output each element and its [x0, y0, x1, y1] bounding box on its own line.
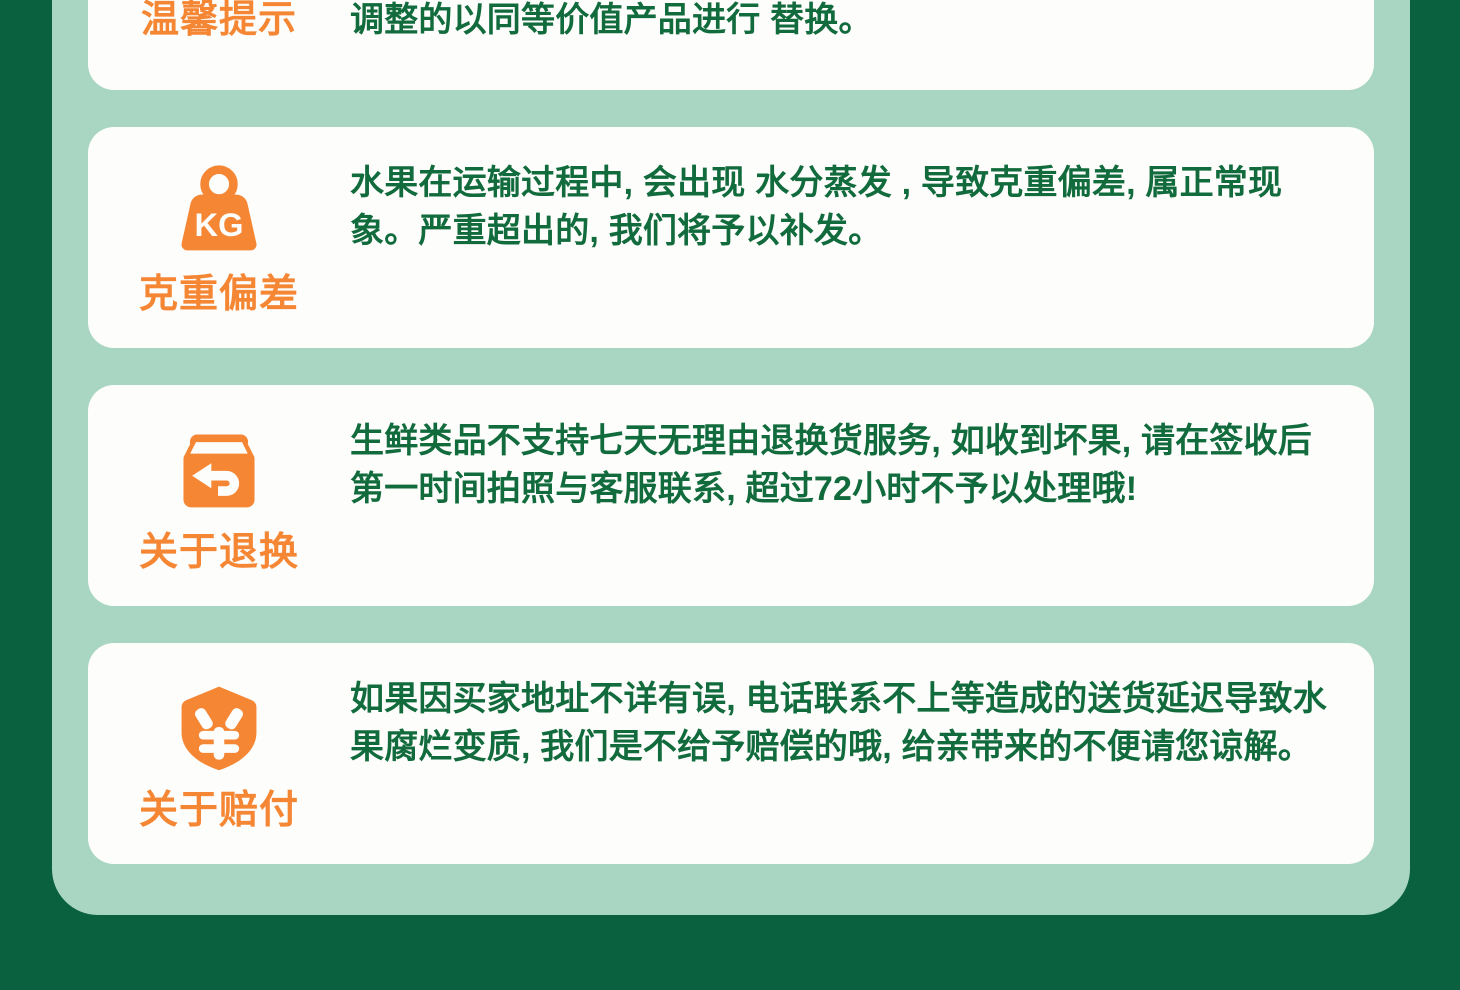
return-box-icon — [171, 421, 267, 517]
policy-card-side-weight-deviation: KG 克重偏差 — [88, 159, 350, 314]
policy-card-text-warm-tips: 调整的以同等价值产品进行 替换。 — [350, 0, 1328, 40]
policy-card-text-about-compensation: 如果因买家地址不详有误, 电话联系不上等造成的送货延迟导致水果腐烂变质, 我们是… — [350, 675, 1328, 772]
service-policy-panel: 温馨提示 调整的以同等价值产品进行 替换。 — [52, 0, 1410, 915]
policy-card-label-about-compensation: 关于赔付 — [139, 791, 299, 830]
policy-card-body-about-return: 生鲜类品不支持七天无理由退换货服务, 如收到坏果, 请在签收后第一时间拍照与客服… — [350, 417, 1374, 514]
shield-yuan-icon — [171, 679, 267, 775]
kg-weight-icon: KG — [171, 163, 267, 259]
kg-weight-icon-text: KG — [195, 206, 244, 243]
policy-card-label-warm-tips: 温馨提示 — [141, 1, 297, 39]
policy-card-body-about-compensation: 如果因买家地址不详有误, 电话联系不上等造成的送货延迟导致水果腐烂变质, 我们是… — [350, 675, 1374, 772]
policy-card-body-warm-tips: 调整的以同等价值产品进行 替换。 — [350, 0, 1374, 40]
policy-card-label-about-return: 关于退换 — [139, 533, 299, 572]
policy-card-side-warm-tips: 温馨提示 — [88, 1, 350, 39]
policy-card-warm-tips: 温馨提示 调整的以同等价值产品进行 替换。 — [88, 0, 1374, 90]
policy-card-list: 温馨提示 调整的以同等价值产品进行 替换。 — [88, 0, 1374, 864]
page-root: 温馨提示 调整的以同等价值产品进行 替换。 — [0, 0, 1460, 990]
policy-card-about-return: 关于退换 生鲜类品不支持七天无理由退换货服务, 如收到坏果, 请在签收后第一时间… — [88, 385, 1374, 606]
policy-card-side-about-return: 关于退换 — [88, 417, 350, 572]
policy-card-weight-deviation: KG 克重偏差 水果在运输过程中, 会出现 水分蒸发 , 导致克重偏差, 属正常… — [88, 127, 1374, 348]
policy-card-about-compensation: 关于赔付 如果因买家地址不详有误, 电话联系不上等造成的送货延迟导致水果腐烂变质… — [88, 643, 1374, 864]
policy-card-text-weight-deviation: 水果在运输过程中, 会出现 水分蒸发 , 导致克重偏差, 属正常现象。严重超出的… — [350, 159, 1328, 256]
policy-card-side-about-compensation: 关于赔付 — [88, 675, 350, 830]
policy-card-body-weight-deviation: 水果在运输过程中, 会出现 水分蒸发 , 导致克重偏差, 属正常现象。严重超出的… — [350, 159, 1374, 256]
policy-card-text-about-return: 生鲜类品不支持七天无理由退换货服务, 如收到坏果, 请在签收后第一时间拍照与客服… — [350, 417, 1328, 514]
policy-card-label-weight-deviation: 克重偏差 — [139, 275, 299, 314]
